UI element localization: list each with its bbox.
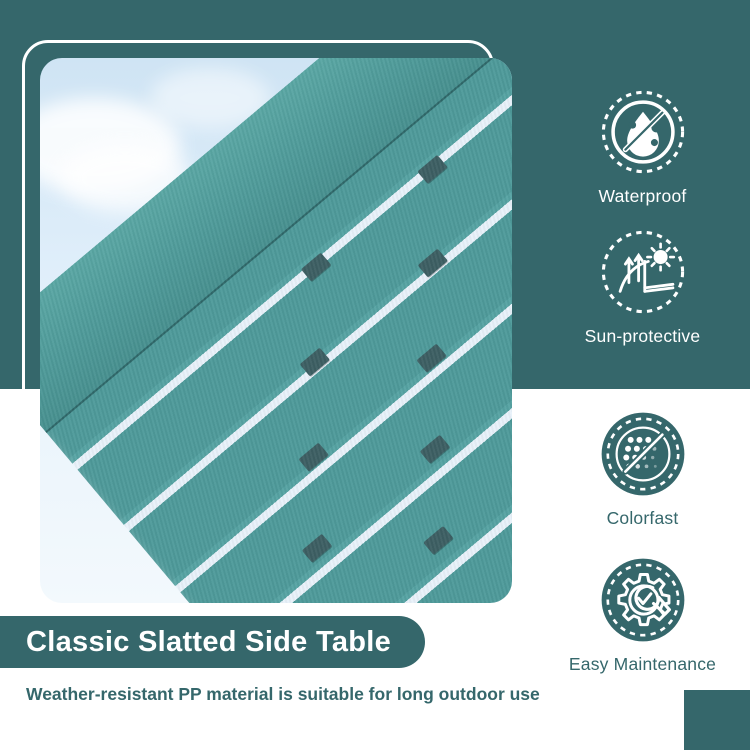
slat-connector: [302, 534, 332, 563]
title-banner: Classic Slatted Side Table: [0, 616, 425, 668]
product-photo: [40, 58, 512, 603]
waterproof-droplet-slash-icon: [599, 88, 687, 176]
colorfast-dot-grid-slash-icon: [599, 410, 687, 498]
table-front-edge: [40, 58, 512, 433]
slat-connector: [298, 443, 328, 472]
slat-connector: [423, 526, 453, 555]
feature-label: Colorfast: [535, 508, 750, 529]
corner-accent-block: [684, 690, 750, 750]
table-slats: [40, 58, 512, 603]
product-marketing-banner: Waterproof: [0, 0, 750, 750]
gear-wrench-icon: [599, 556, 687, 644]
slat-connector: [417, 155, 447, 184]
feature-item-sun-protective[interactable]: Sun-protective: [535, 228, 750, 347]
feature-label: Waterproof: [535, 186, 750, 207]
feature-list: Waterproof: [535, 0, 750, 750]
feature-item-colorfast[interactable]: Colorfast: [535, 410, 750, 529]
feature-label: Easy Maintenance: [535, 654, 750, 675]
slat-connector: [300, 348, 330, 377]
feature-label: Sun-protective: [535, 326, 750, 347]
slat-connector: [416, 344, 446, 373]
feature-item-waterproof[interactable]: Waterproof: [535, 88, 750, 207]
subtitle-text: Weather-resistant PP material is suitabl…: [26, 684, 540, 705]
sun-protective-icon: [599, 228, 687, 316]
slat-connector: [420, 435, 450, 464]
page-title: Classic Slatted Side Table: [26, 626, 391, 659]
slat-connector: [418, 249, 448, 278]
slat-connector: [301, 253, 331, 282]
slatted-table-top: [40, 58, 512, 603]
feature-item-easy-maintenance[interactable]: Easy Maintenance: [535, 556, 750, 675]
